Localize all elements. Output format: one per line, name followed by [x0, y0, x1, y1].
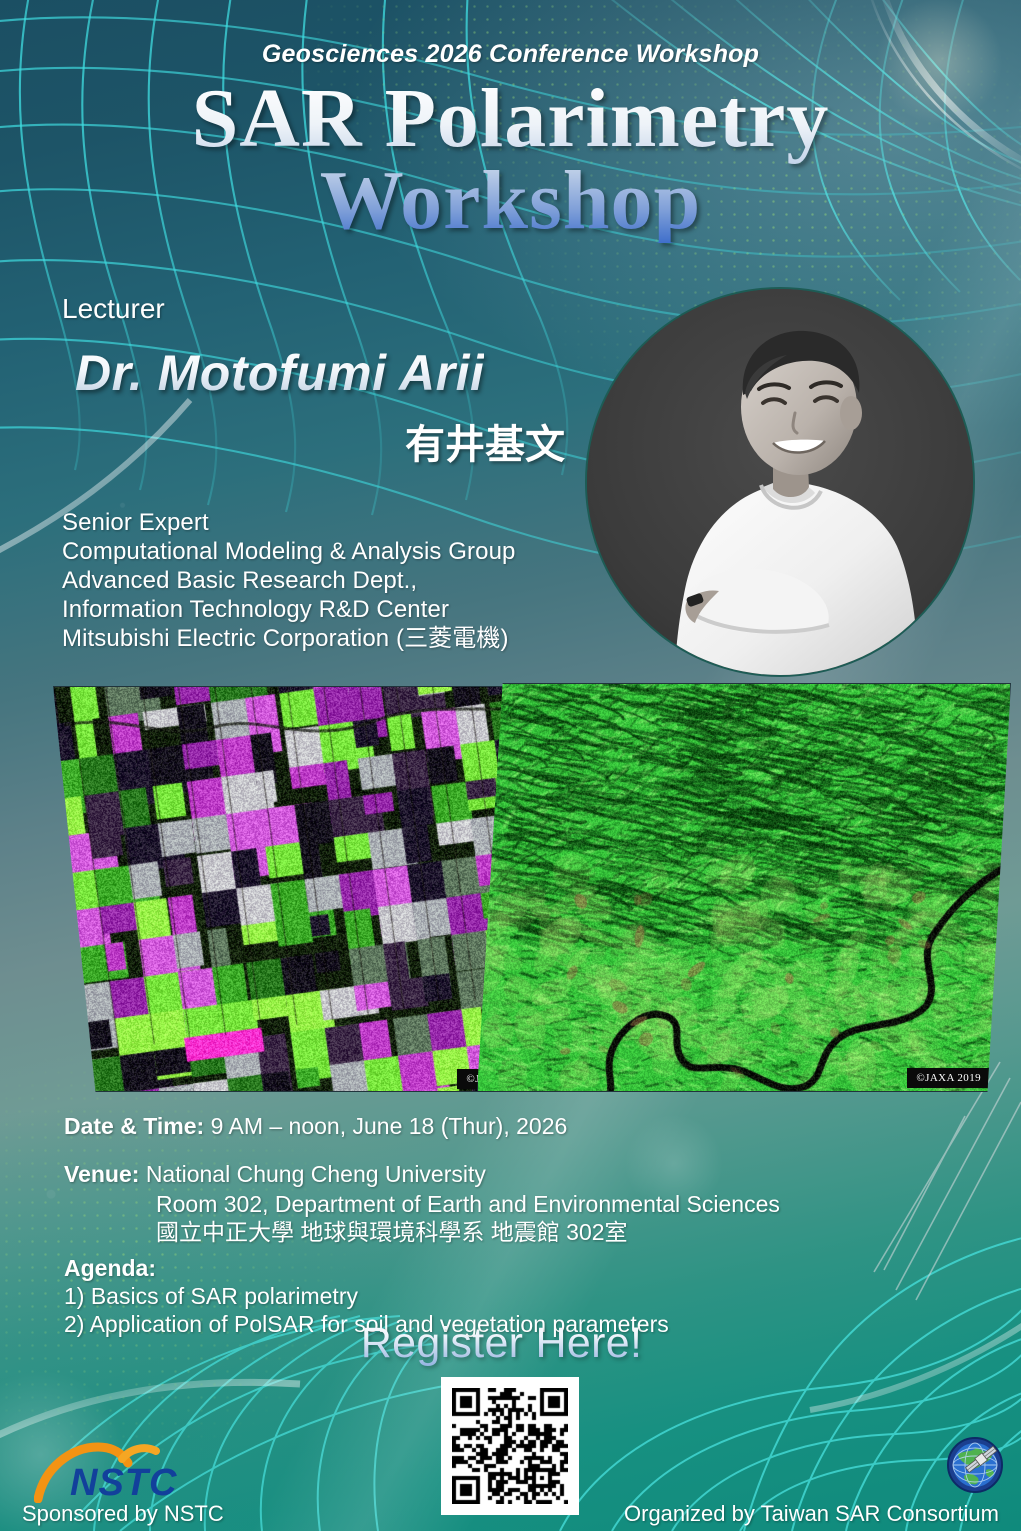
- sponsor-text: Sponsored by NSTC: [22, 1501, 224, 1527]
- sar-image-forest: ©JAXA 2019: [477, 683, 1011, 1092]
- agenda-label: Agenda:: [64, 1254, 780, 1282]
- nstc-wordmark: NSTC: [70, 1462, 177, 1503]
- registration-qr-code[interactable]: [441, 1377, 579, 1515]
- poster-root: Geosciences 2026 Conference Workshop SAR…: [0, 0, 1021, 1531]
- globe-satellite-icon: [946, 1436, 1004, 1494]
- nstc-logo-mark: NSTC: [34, 1441, 209, 1503]
- sar-right-credit: ©JAXA 2019: [907, 1068, 990, 1088]
- register-heading[interactable]: Register Here!: [0, 1319, 1021, 1368]
- date-label: Date & Time:: [64, 1113, 204, 1139]
- date-row: Date & Time: 9 AM – noon, June 18 (Thur)…: [64, 1112, 780, 1140]
- event-details: Date & Time: 9 AM – noon, June 18 (Thur)…: [64, 1112, 780, 1338]
- venue-line-3: 國立中正大學 地球與環境科學系 地震館 302室: [64, 1218, 780, 1246]
- agenda-item: 1) Basics of SAR polarimetry: [64, 1282, 780, 1310]
- nstc-logo: NSTC: [34, 1441, 209, 1503]
- organizer-text: Organized by Taiwan SAR Consortium: [624, 1501, 999, 1527]
- venue-label: Venue:: [64, 1161, 139, 1187]
- venue-line-1: National Chung Cheng University: [146, 1161, 486, 1187]
- sar-image-agricultural: ©JAXA 2025: [53, 686, 553, 1092]
- venue-line-2: Room 302, Department of Earth and Enviro…: [64, 1190, 780, 1218]
- taiwan-sar-consortium-logo: [946, 1436, 1004, 1494]
- date-value: 9 AM – noon, June 18 (Thur), 2026: [211, 1113, 568, 1139]
- venue-row: Venue: National Chung Cheng University: [64, 1160, 780, 1188]
